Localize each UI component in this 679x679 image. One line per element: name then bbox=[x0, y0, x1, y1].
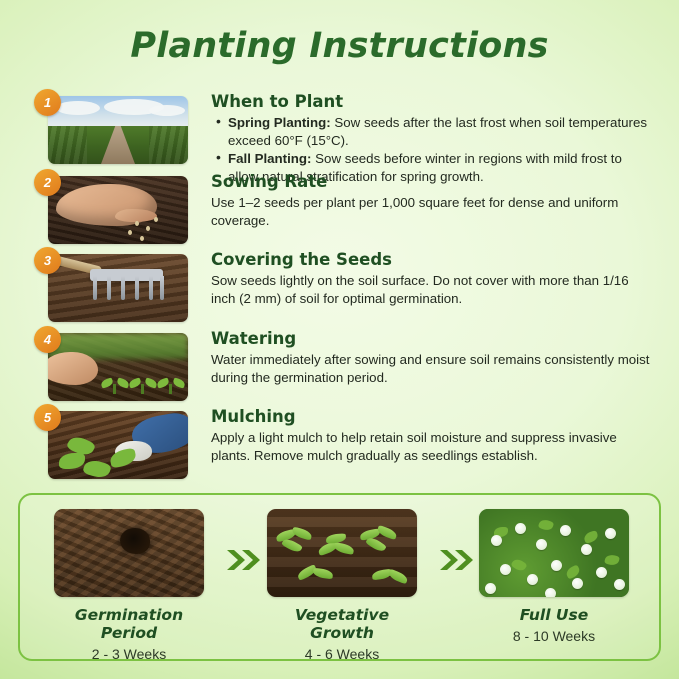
step-5-body: Mulching Apply a light mulch to help ret… bbox=[211, 407, 651, 464]
step-3-thumbnail-wrap: 3 bbox=[48, 254, 188, 322]
step-4-thumbnail-wrap: 4 bbox=[48, 333, 188, 401]
timeline-item-full-use: Full Use 8 - 10 Weeks bbox=[479, 509, 629, 644]
step-2-heading: Sowing Rate bbox=[211, 172, 651, 191]
seedlings-in-soil-photo bbox=[267, 509, 417, 597]
step-2-paragraph: Use 1–2 seeds per plant per 1,000 square… bbox=[211, 194, 651, 229]
field-with-path-photo bbox=[48, 96, 188, 164]
white-clover-groundcover-photo bbox=[479, 509, 629, 597]
step-2-thumbnail-wrap: 2 bbox=[48, 176, 188, 244]
step-3-heading: Covering the Seeds bbox=[211, 250, 651, 269]
step-3-body: Covering the Seeds Sow seeds lightly on … bbox=[211, 250, 651, 307]
hand-sowing-seeds-photo bbox=[48, 176, 188, 244]
double-chevron-right-icon bbox=[437, 547, 477, 573]
growth-timeline-panel: Germination Period 2 - 3 Weeks bbox=[18, 493, 661, 661]
timeline-label: Germination Period bbox=[54, 606, 204, 642]
list-item: Spring Planting: Sow seeds after the las… bbox=[228, 114, 651, 149]
timeline-duration: 4 - 6 Weeks bbox=[267, 646, 417, 662]
step-5-thumbnail-wrap: 5 bbox=[48, 411, 188, 479]
step-5-paragraph: Apply a light mulch to help retain soil … bbox=[211, 429, 651, 464]
step-4-paragraph: Water immediately after sowing and ensur… bbox=[211, 351, 651, 386]
step-5-number-badge: 5 bbox=[34, 404, 61, 431]
page-title: Planting Instructions bbox=[0, 0, 679, 66]
timeline-duration: 2 - 3 Weeks bbox=[54, 646, 204, 662]
bullet-lead: Spring Planting: bbox=[228, 115, 331, 130]
step-1-number-badge: 1 bbox=[34, 89, 61, 116]
timeline-item-germination: Germination Period 2 - 3 Weeks bbox=[54, 509, 204, 662]
double-chevron-right-icon bbox=[224, 547, 264, 573]
timeline-label: Full Use bbox=[479, 606, 629, 624]
hand-planting-seedlings-photo bbox=[48, 333, 188, 401]
planting-instructions-infographic: Planting Instructions 1 bbox=[0, 0, 679, 679]
step-4-heading: Watering bbox=[211, 329, 651, 348]
gloved-hand-mulching-photo bbox=[48, 411, 188, 479]
step-2-body: Sowing Rate Use 1–2 seeds per plant per … bbox=[211, 172, 651, 229]
soil-with-seed-hole-photo bbox=[54, 509, 204, 597]
step-3-paragraph: Sow seeds lightly on the soil surface. D… bbox=[211, 272, 651, 307]
step-4-body: Watering Water immediately after sowing … bbox=[211, 329, 651, 386]
rake-on-soil-photo bbox=[48, 254, 188, 322]
timeline-label: Vegetative Growth bbox=[267, 606, 417, 642]
step-1-thumbnail-wrap: 1 bbox=[48, 96, 188, 164]
bullet-lead: Fall Planting: bbox=[228, 151, 311, 166]
step-3-number-badge: 3 bbox=[34, 247, 61, 274]
step-5-heading: Mulching bbox=[211, 407, 651, 426]
step-1-heading: When to Plant bbox=[211, 92, 651, 111]
timeline-item-vegetative-growth: Vegetative Growth 4 - 6 Weeks bbox=[267, 509, 417, 662]
step-2-number-badge: 2 bbox=[34, 169, 61, 196]
step-4-number-badge: 4 bbox=[34, 326, 61, 353]
timeline-duration: 8 - 10 Weeks bbox=[479, 628, 629, 644]
